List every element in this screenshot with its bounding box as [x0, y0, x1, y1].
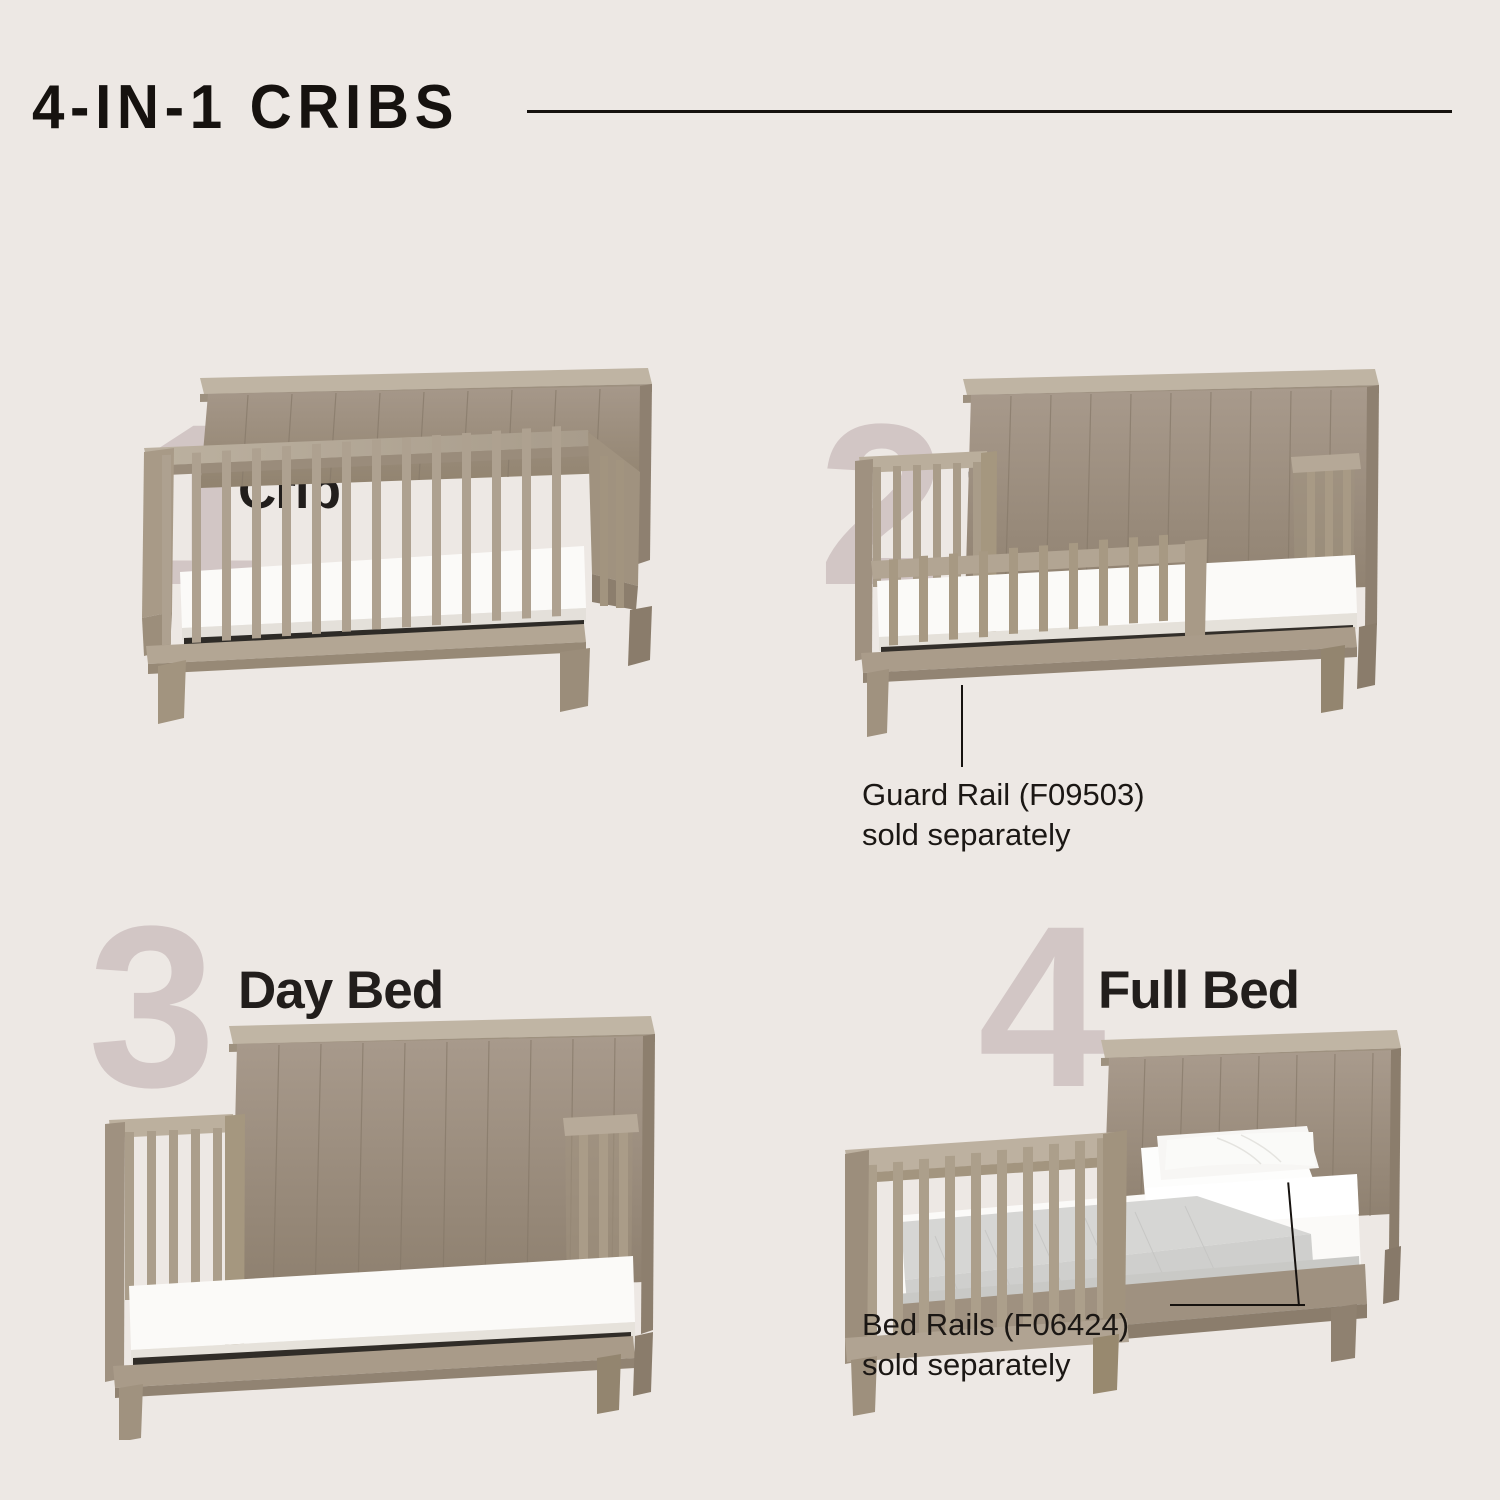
guard-rail-leader-line [961, 685, 963, 767]
panel-toddler-bed: 2 Toddler Bed [750, 180, 1500, 880]
toddler-bed-illustration [855, 365, 1395, 785]
bed-rails-note: Bed Rails (F06424) sold separately [862, 1305, 1282, 1384]
guard-rail-note: Guard Rail (F09503) sold separately [862, 775, 1262, 854]
header-divider [527, 110, 1452, 113]
panel-crib: 1 Crib [0, 180, 750, 880]
panel-day-bed: 3 Day Bed [0, 880, 750, 1500]
day-bed-illustration [105, 1010, 665, 1440]
page-title: 4-IN-1 CRIBS [32, 72, 459, 143]
infographic-page: 4-IN-1 CRIBS 1 Crib [0, 0, 1500, 1500]
crib-illustration [140, 360, 660, 800]
header: 4-IN-1 CRIBS [0, 0, 1500, 180]
panel-full-bed: 4 Full Bed [750, 880, 1500, 1500]
